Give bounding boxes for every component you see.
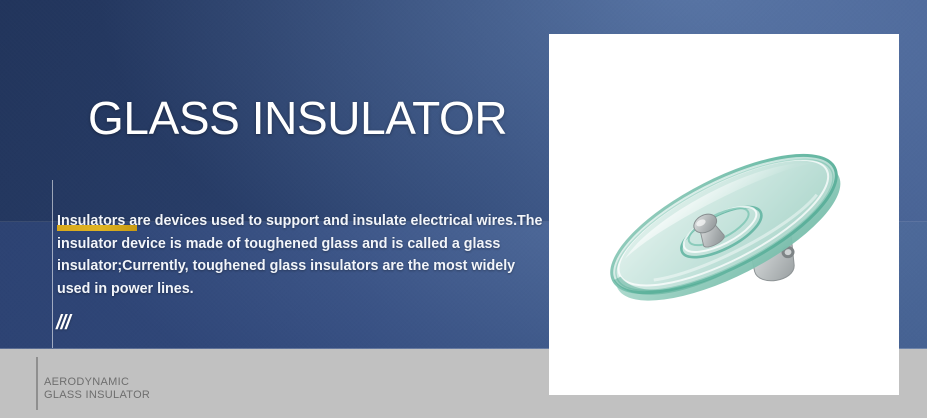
product-image-panel [549,34,899,395]
footer-vertical-rule [36,357,38,410]
slash-decoration: /// [56,312,70,335]
slide-canvas: GLASS INSULATOR Insulators are devices u… [0,0,927,418]
body-paragraph: Insulators are devices used to support a… [57,210,544,300]
footer-line-1: AERODYNAMIC [44,376,150,389]
footer-caption: AERODYNAMIC GLASS INSULATOR [44,376,150,401]
page-title: GLASS INSULATOR [88,92,507,144]
footer-line-2: GLASS INSULATOR [44,389,150,402]
glass-insulator-image [549,34,899,395]
gold-highlight-underline [57,225,137,231]
left-vertical-rule [52,180,53,348]
